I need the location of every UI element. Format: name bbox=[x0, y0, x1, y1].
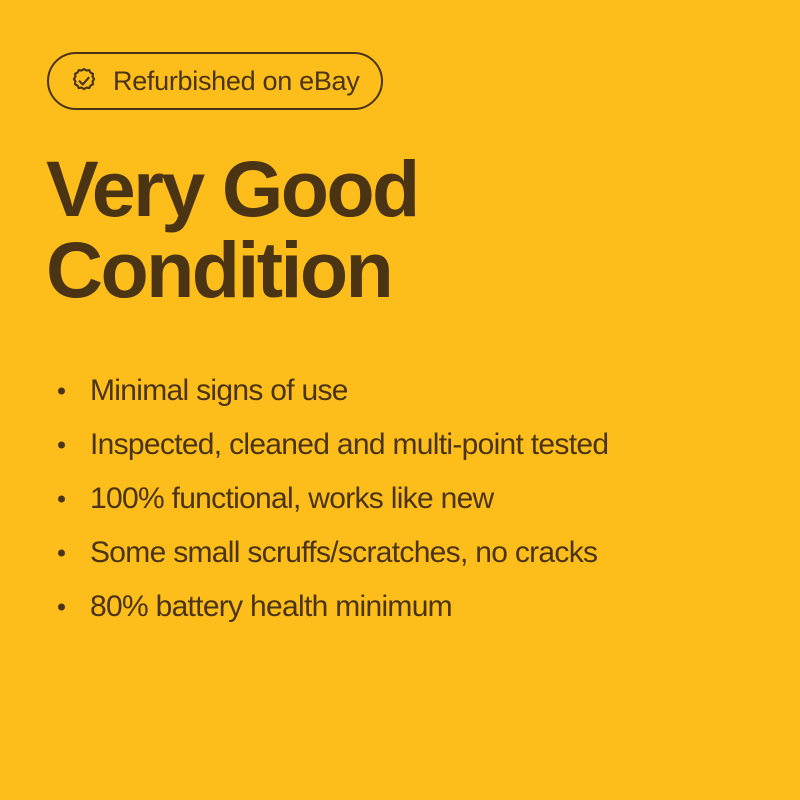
bullet-dot-icon bbox=[58, 496, 65, 503]
list-item-label: Minimal signs of use bbox=[90, 374, 348, 408]
refurbished-badge-label: Refurbished on eBay bbox=[113, 66, 359, 96]
list-item: 100% functional, works like new bbox=[48, 472, 768, 526]
list-item-label: 100% functional, works like new bbox=[90, 482, 494, 516]
list-item: 80% battery health minimum bbox=[48, 580, 768, 634]
list-item: Some small scruffs/scratches, no cracks bbox=[48, 526, 768, 580]
bullet-dot-icon bbox=[58, 442, 65, 449]
list-item-label: Inspected, cleaned and multi-point teste… bbox=[90, 428, 608, 462]
verified-seal-check-icon bbox=[69, 66, 99, 96]
condition-feature-list: Minimal signs of use Inspected, cleaned … bbox=[48, 364, 768, 634]
list-item-label: 80% battery health minimum bbox=[90, 590, 452, 624]
bullet-dot-icon bbox=[58, 604, 65, 611]
list-item: Inspected, cleaned and multi-point teste… bbox=[48, 418, 768, 472]
page-title-line-1: Very Good bbox=[46, 148, 418, 229]
page-title-line-2: Condition bbox=[46, 229, 418, 310]
bullet-dot-icon bbox=[58, 388, 65, 395]
list-item: Minimal signs of use bbox=[48, 364, 768, 418]
page-title: Very Good Condition bbox=[46, 148, 418, 310]
list-item-label: Some small scruffs/scratches, no cracks bbox=[90, 536, 597, 570]
refurbished-condition-card: Refurbished on eBay Very Good Condition … bbox=[0, 0, 800, 800]
refurbished-badge[interactable]: Refurbished on eBay bbox=[47, 52, 383, 110]
bullet-dot-icon bbox=[58, 550, 65, 557]
